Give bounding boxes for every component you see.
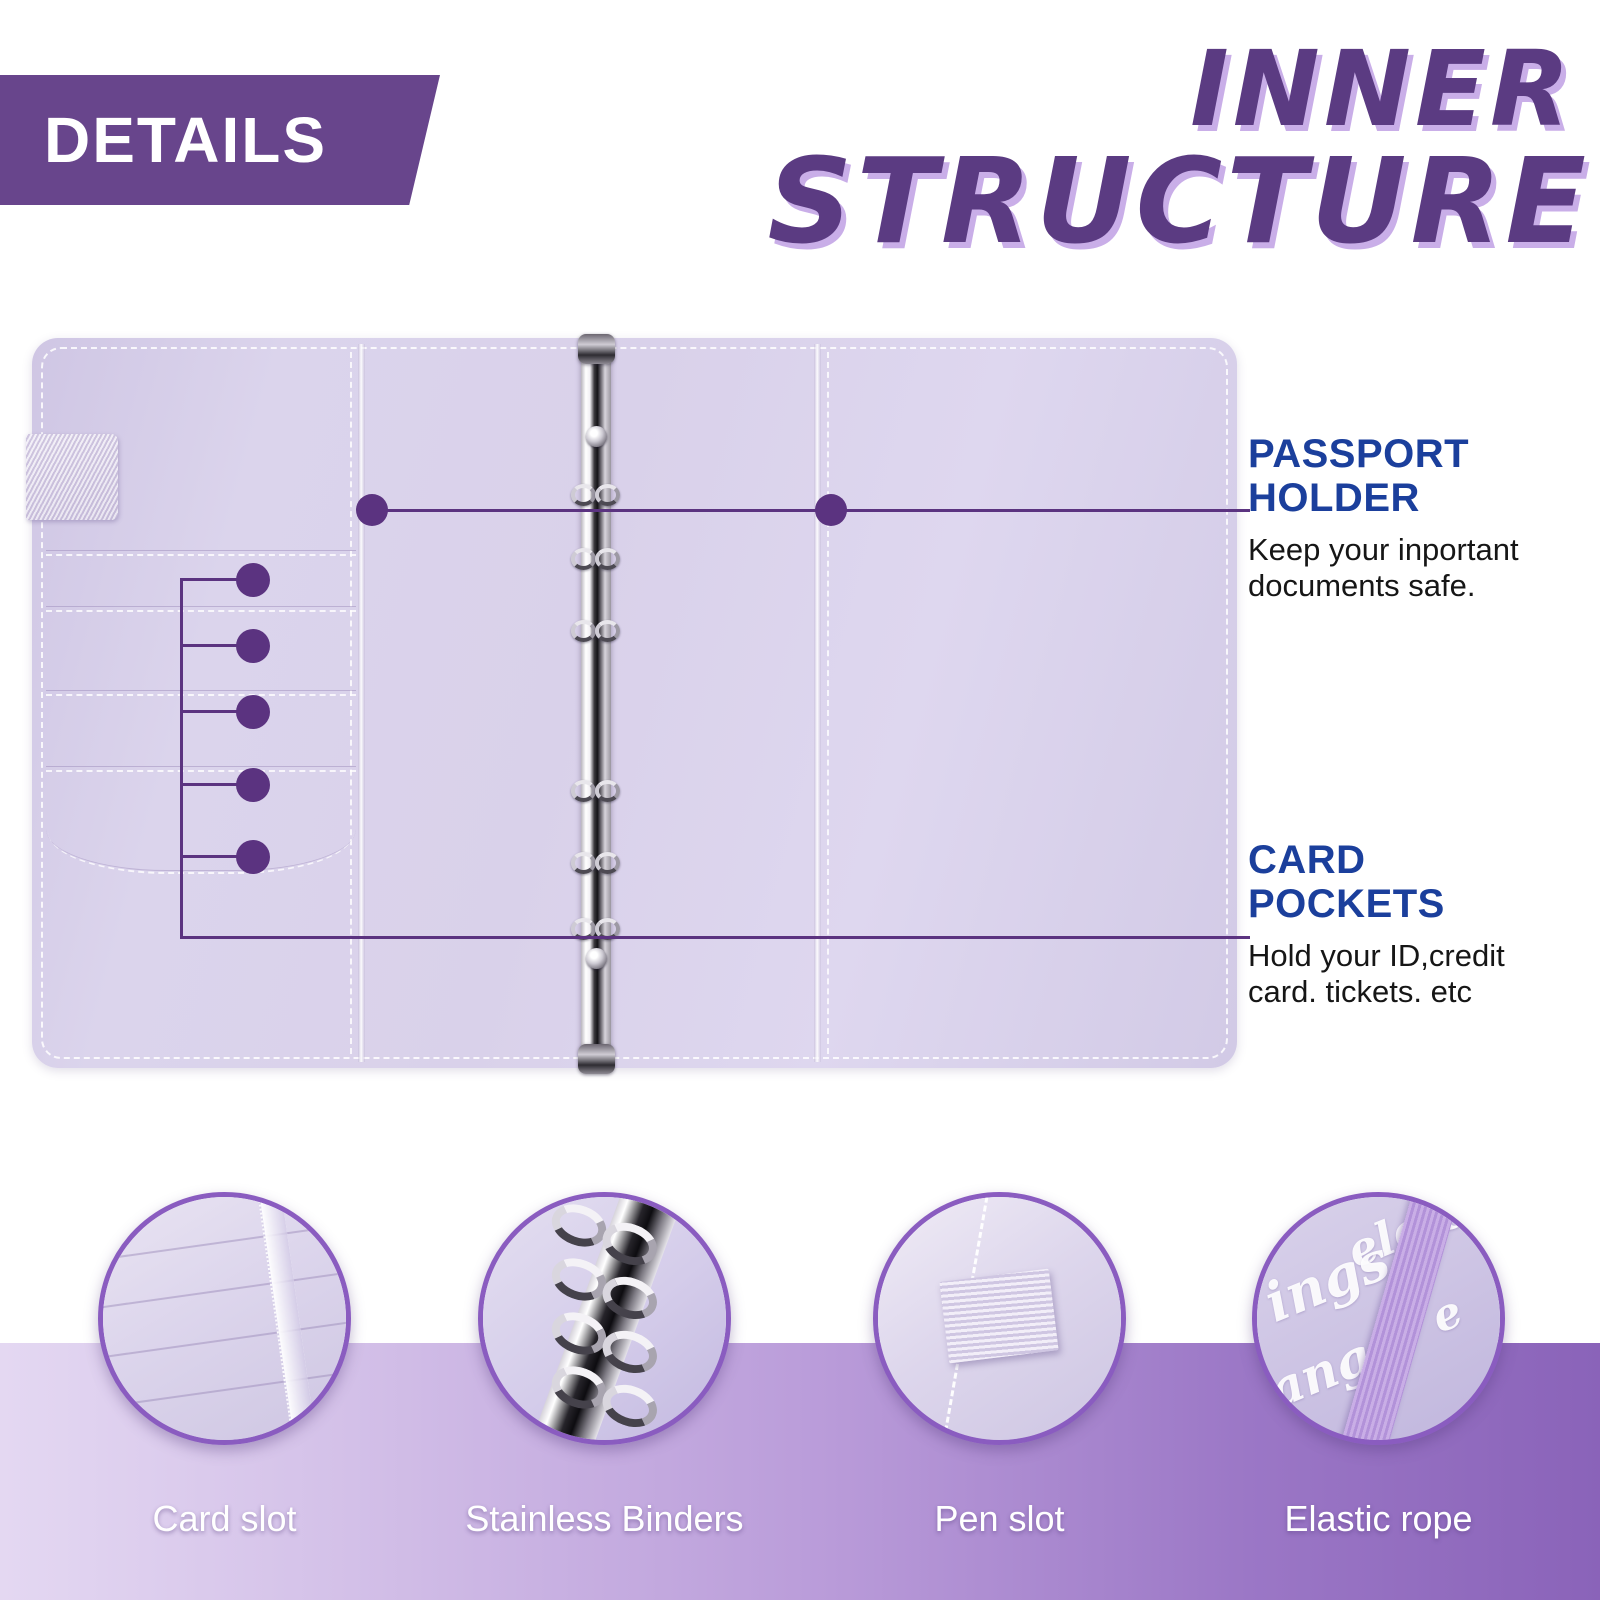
callout-passport-heading: PASSPORT HOLDER [1248, 432, 1600, 520]
binder-fold-left [358, 344, 365, 1062]
binder-ring-mechanism [572, 332, 620, 1074]
binder-ring [571, 484, 621, 508]
card-slot-closeup-image [103, 1197, 346, 1440]
thumbnail-stainless-binders [478, 1192, 731, 1445]
binder-fold-stitch-left [350, 352, 352, 1054]
thumbnail-label-stainless-binders: Stainless Binders [428, 1498, 781, 1540]
card-pocket [46, 810, 356, 871]
callout-passport-body: Keep your inportant documents safe. [1248, 532, 1600, 604]
card-pocket [46, 606, 356, 607]
page-title-line-2: STRUCTURE [640, 145, 1590, 257]
binder-ring [571, 780, 621, 804]
page-title: INNER STRUCTURE [640, 40, 1590, 257]
pen-slot-closeup-image [878, 1197, 1121, 1440]
elastic-rope-closeup-image: elole ings ange e [1257, 1197, 1500, 1440]
pen-loop [26, 434, 118, 520]
callout-card-heading-line-1: CARD [1248, 838, 1366, 882]
thumbnail-label-card-slot: Card slot [98, 1498, 351, 1540]
callout-card-pockets: CARD POCKETS Hold your ID,credit card. t… [1248, 838, 1600, 1010]
thumbnail-pen-slot [873, 1192, 1126, 1445]
binder-rings-closeup-image [483, 1197, 726, 1440]
callout-card-body-line-1: Hold your ID,credit [1248, 938, 1505, 973]
card-pocket [46, 690, 356, 691]
product-photo-binder [32, 338, 1237, 1068]
thumbnail-label-elastic-rope: Elastic rope [1222, 1498, 1535, 1540]
binder-ring [571, 548, 621, 572]
card-pocket [46, 550, 356, 551]
callout-card-body-line-2: card. tickets. etc [1248, 974, 1472, 1009]
thumbnail-label-pen-slot: Pen slot [873, 1498, 1126, 1540]
card-pocket [46, 766, 356, 767]
details-banner-label: DETAILS [0, 108, 327, 172]
details-banner: DETAILS [0, 75, 440, 205]
binder-fold-stitch-right [827, 352, 829, 1054]
callout-passport-body-line-1: Keep your inportant [1248, 532, 1519, 567]
callout-passport-holder: PASSPORT HOLDER Keep your inportant docu… [1248, 432, 1600, 604]
thumbnail-elastic-rope: elole ings ange e [1252, 1192, 1505, 1445]
callout-card-heading: CARD POCKETS [1248, 838, 1600, 926]
callout-card-heading-line-2: POCKETS [1248, 882, 1445, 926]
page-title-line-1: INNER [640, 40, 1590, 139]
binder-cap-top [578, 334, 615, 364]
binder-rivet [586, 948, 607, 969]
callout-passport-body-line-2: documents safe. [1248, 568, 1475, 603]
binder-ring [571, 620, 621, 644]
callout-passport-heading-line-1: PASSPORT [1248, 432, 1469, 476]
binder-cap-bottom [578, 1044, 615, 1074]
binder-fold-right [814, 344, 821, 1062]
binder-rivet [586, 426, 607, 447]
thumbnail-card-slot [98, 1192, 351, 1445]
callout-passport-heading-line-2: HOLDER [1248, 476, 1420, 520]
binder-ring [571, 918, 621, 942]
callout-card-body: Hold your ID,credit card. tickets. etc [1248, 938, 1600, 1010]
binder-outer-stitching [41, 347, 1228, 1059]
binder-ring [571, 852, 621, 876]
